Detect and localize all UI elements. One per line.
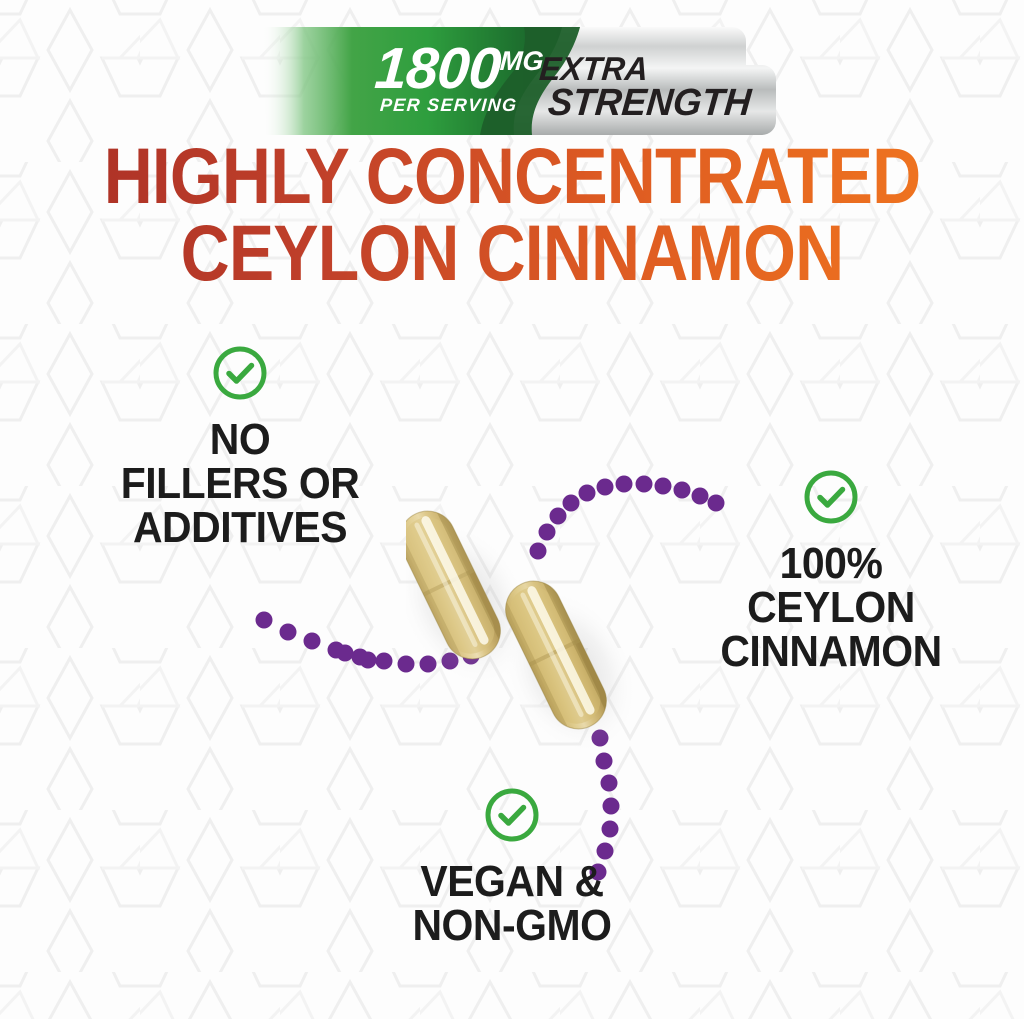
feature-label-line-1: VEGAN & — [307, 860, 716, 904]
check-icon-wrap-vegan — [292, 786, 732, 844]
feature-label-line-2: NON-GMO — [307, 904, 716, 948]
feature-label-line-2: FILLERS OR — [35, 462, 444, 506]
check-icon-wrap-fillers — [20, 344, 460, 402]
feature-100-percent-ceylon-cinnamon: 100% CEYLON CINNAMON — [638, 468, 1024, 674]
check-icon-wrap-ceylon — [638, 468, 1024, 526]
banner-per-serving-label: PER SERVING — [379, 96, 518, 114]
check-circle-icon — [483, 786, 541, 844]
page-headline: HIGHLY CONCENTRATED CEYLON CINNAMON — [0, 140, 1024, 289]
banner-extra-label: EXTRA — [538, 52, 649, 85]
banner-dosage-amount: 1800 — [373, 40, 502, 98]
feature-label-line-1: NO — [35, 418, 444, 462]
check-circle-icon — [211, 344, 269, 402]
feature-vegan-and-non-gmo: VEGAN & NON-GMO — [292, 786, 732, 948]
headline-line-2: CEYLON CINNAMON — [72, 217, 953, 290]
banner-dosage-unit: MG — [499, 48, 544, 75]
feature-label-line-3: CINNAMON — [652, 630, 1011, 674]
feature-label-line-2: CEYLON — [652, 586, 1011, 630]
feature-label-line-1: 100% — [652, 542, 1011, 586]
banner-strength-label: STRENGTH — [546, 84, 752, 122]
headline-line-1: HIGHLY CONCENTRATED — [72, 140, 953, 213]
check-circle-icon — [802, 468, 860, 526]
infographic-canvas: 1800 MG PER SERVING EXTRA STRENGTH HIGHL… — [0, 0, 1024, 1019]
feature-no-fillers-or-additives: NO FILLERS OR ADDITIVES — [20, 344, 460, 550]
feature-label-line-3: ADDITIVES — [35, 506, 444, 550]
